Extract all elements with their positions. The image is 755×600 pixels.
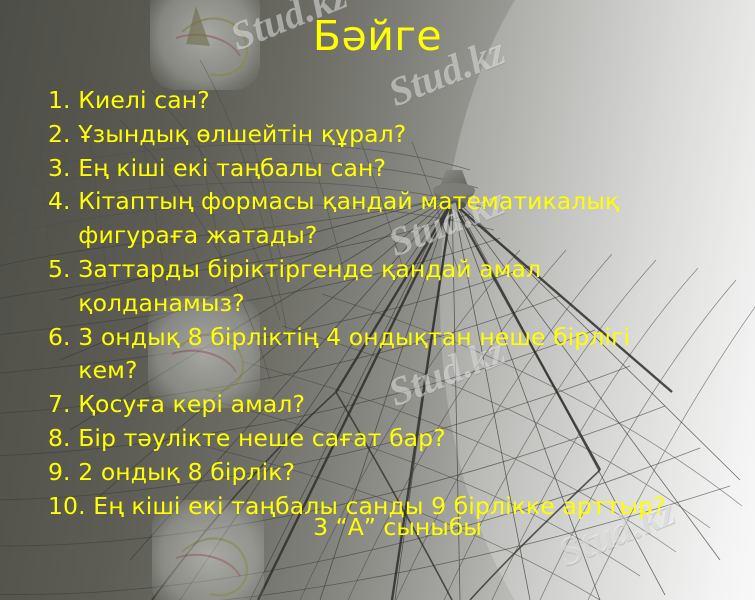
question-text: Ұзындық өлшейтін құрал? — [78, 120, 406, 148]
question-text: Бір тәулікте неше сағат бар? — [78, 424, 446, 452]
question-number: 4. — [48, 187, 71, 215]
question-number: 8. — [48, 424, 71, 452]
question-number: 7. — [48, 390, 71, 418]
question-text: Заттарды біріктіргенде қандай амал қолда… — [48, 255, 541, 317]
question-text: Қосуға кері амал? — [78, 390, 305, 418]
question-text: Кітаптың формасы қандай математикалық фи… — [48, 187, 619, 249]
question-item: 4. Кітаптың формасы қандай математикалық… — [48, 185, 748, 253]
question-item: 5. Заттарды біріктіргенде қандай амал қо… — [48, 253, 748, 321]
question-item: 1. Киелі сан? — [48, 84, 748, 118]
question-item: 7. Қосуға кері амал? — [48, 388, 748, 422]
slide-title: Бәйге — [0, 14, 755, 59]
question-number: 2. — [48, 120, 71, 148]
question-number: 1. — [48, 86, 71, 114]
question-item: 3. Ең кіші екі таңбалы сан? — [48, 152, 748, 186]
question-text: Ең кіші екі таңбалы сан? — [78, 154, 386, 182]
question-item: 6. 3 ондық 8 бірліктің 4 ондықтан неше б… — [48, 321, 748, 389]
question-item: 2. Ұзындық өлшейтін құрал? — [48, 118, 748, 152]
question-item: 8. Бір тәулікте неше сағат бар? — [48, 422, 748, 456]
question-item: 9. 2 ондық 8 бірлік? — [48, 456, 748, 490]
question-number: 3. — [48, 154, 71, 182]
presentation-slide: Stud.kz Stud.kz Stud.kz Stud.kz Stud.kz … — [0, 0, 755, 600]
question-text: 2 ондық 8 бірлік? — [78, 458, 295, 486]
question-text: Киелі сан? — [78, 86, 210, 114]
question-number: 5. — [48, 255, 71, 283]
question-list: 1. Киелі сан?2. Ұзындық өлшейтін құрал?3… — [48, 84, 748, 523]
class-label: 3 “А” сыныбы — [0, 511, 755, 545]
question-number: 6. — [48, 323, 71, 351]
question-number: 9. — [48, 458, 71, 486]
question-text: 3 ондық 8 бірліктің 4 ондықтан неше бірл… — [48, 323, 630, 385]
